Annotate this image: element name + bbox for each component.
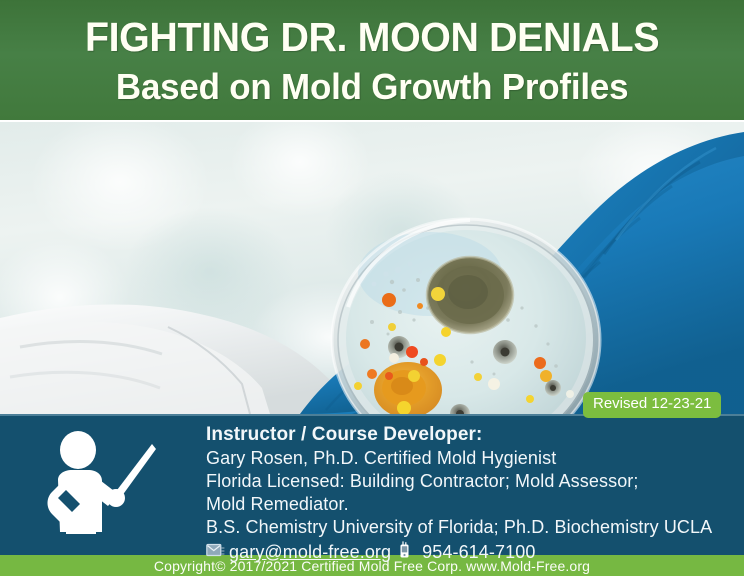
phone-icon bbox=[399, 541, 410, 564]
instructor-pointer-icon bbox=[36, 428, 156, 540]
photo-illustration bbox=[0, 122, 744, 414]
instructor-details: Instructor / Course Developer: Gary Rose… bbox=[206, 424, 726, 564]
instructor-line-3: Mold Remediator. bbox=[206, 493, 726, 516]
contact-row: gary@mold-free.org 954-614-7100 bbox=[206, 541, 726, 564]
revised-date-badge: Revised 12-23-21 bbox=[583, 392, 721, 418]
instructor-line-2: Florida Licensed: Building Contractor; M… bbox=[206, 470, 726, 493]
phone-number: 954-614-7100 bbox=[422, 541, 535, 564]
presentation-slide: FIGHTING DR. MOON DENIALS Based on Mold … bbox=[0, 0, 744, 576]
email-link[interactable]: gary@mold-free.org bbox=[229, 541, 391, 564]
instructor-line-1: Gary Rosen, Ph.D. Certified Mold Hygieni… bbox=[206, 447, 726, 470]
page-subtitle: Based on Mold Growth Profiles bbox=[116, 69, 628, 105]
instructor-line-4: B.S. Chemistry University of Florida; Ph… bbox=[206, 516, 726, 539]
petri-dish-photo bbox=[0, 122, 744, 414]
slide-header: FIGHTING DR. MOON DENIALS Based on Mold … bbox=[0, 0, 744, 120]
mail-icon bbox=[206, 541, 225, 564]
page-title: FIGHTING DR. MOON DENIALS bbox=[85, 17, 659, 58]
instructor-heading: Instructor / Course Developer: bbox=[206, 424, 726, 445]
